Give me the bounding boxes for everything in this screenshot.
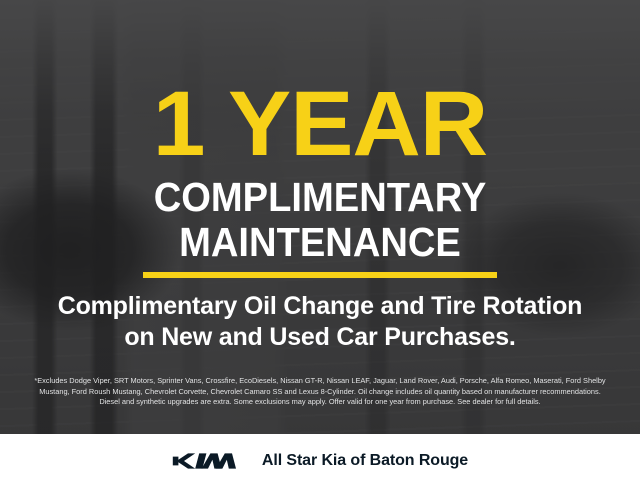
promo-banner: 1 YEAR COMPLIMENTARY MAINTENANCE Complim… (0, 0, 640, 488)
dealer-footer: All Star Kia of Baton Rouge (0, 434, 640, 488)
offer-description: Complimentary Oil Change and Tire Rotati… (0, 291, 640, 353)
hero-section: 1 YEAR COMPLIMENTARY MAINTENANCE Complim… (0, 0, 640, 434)
subheadline-complimentary: COMPLIMENTARY (22, 177, 617, 218)
dealer-name-label: All Star Kia of Baton Rouge (262, 452, 468, 470)
disclaimer-line-2: Mustang, Ford Roush Mustang, Chevrolet C… (12, 387, 628, 398)
offer-line-1: Complimentary Oil Change and Tire Rotati… (0, 291, 640, 322)
disclaimer-line-3: Diesel and synthetic upgrades are extra.… (12, 397, 628, 408)
headline-1-year: 1 YEAR (0, 78, 640, 170)
yellow-divider-rule (143, 272, 497, 278)
subheadline-maintenance: MAINTENANCE (22, 222, 617, 263)
banner-content: 1 YEAR COMPLIMENTARY MAINTENANCE Complim… (0, 0, 640, 434)
kia-logo-icon (172, 451, 244, 471)
disclaimer-line-1: *Excludes Dodge Viper, SRT Motors, Sprin… (12, 376, 628, 387)
offer-line-2: on New and Used Car Purchases. (0, 322, 640, 353)
disclaimer-text: *Excludes Dodge Viper, SRT Motors, Sprin… (12, 376, 628, 408)
